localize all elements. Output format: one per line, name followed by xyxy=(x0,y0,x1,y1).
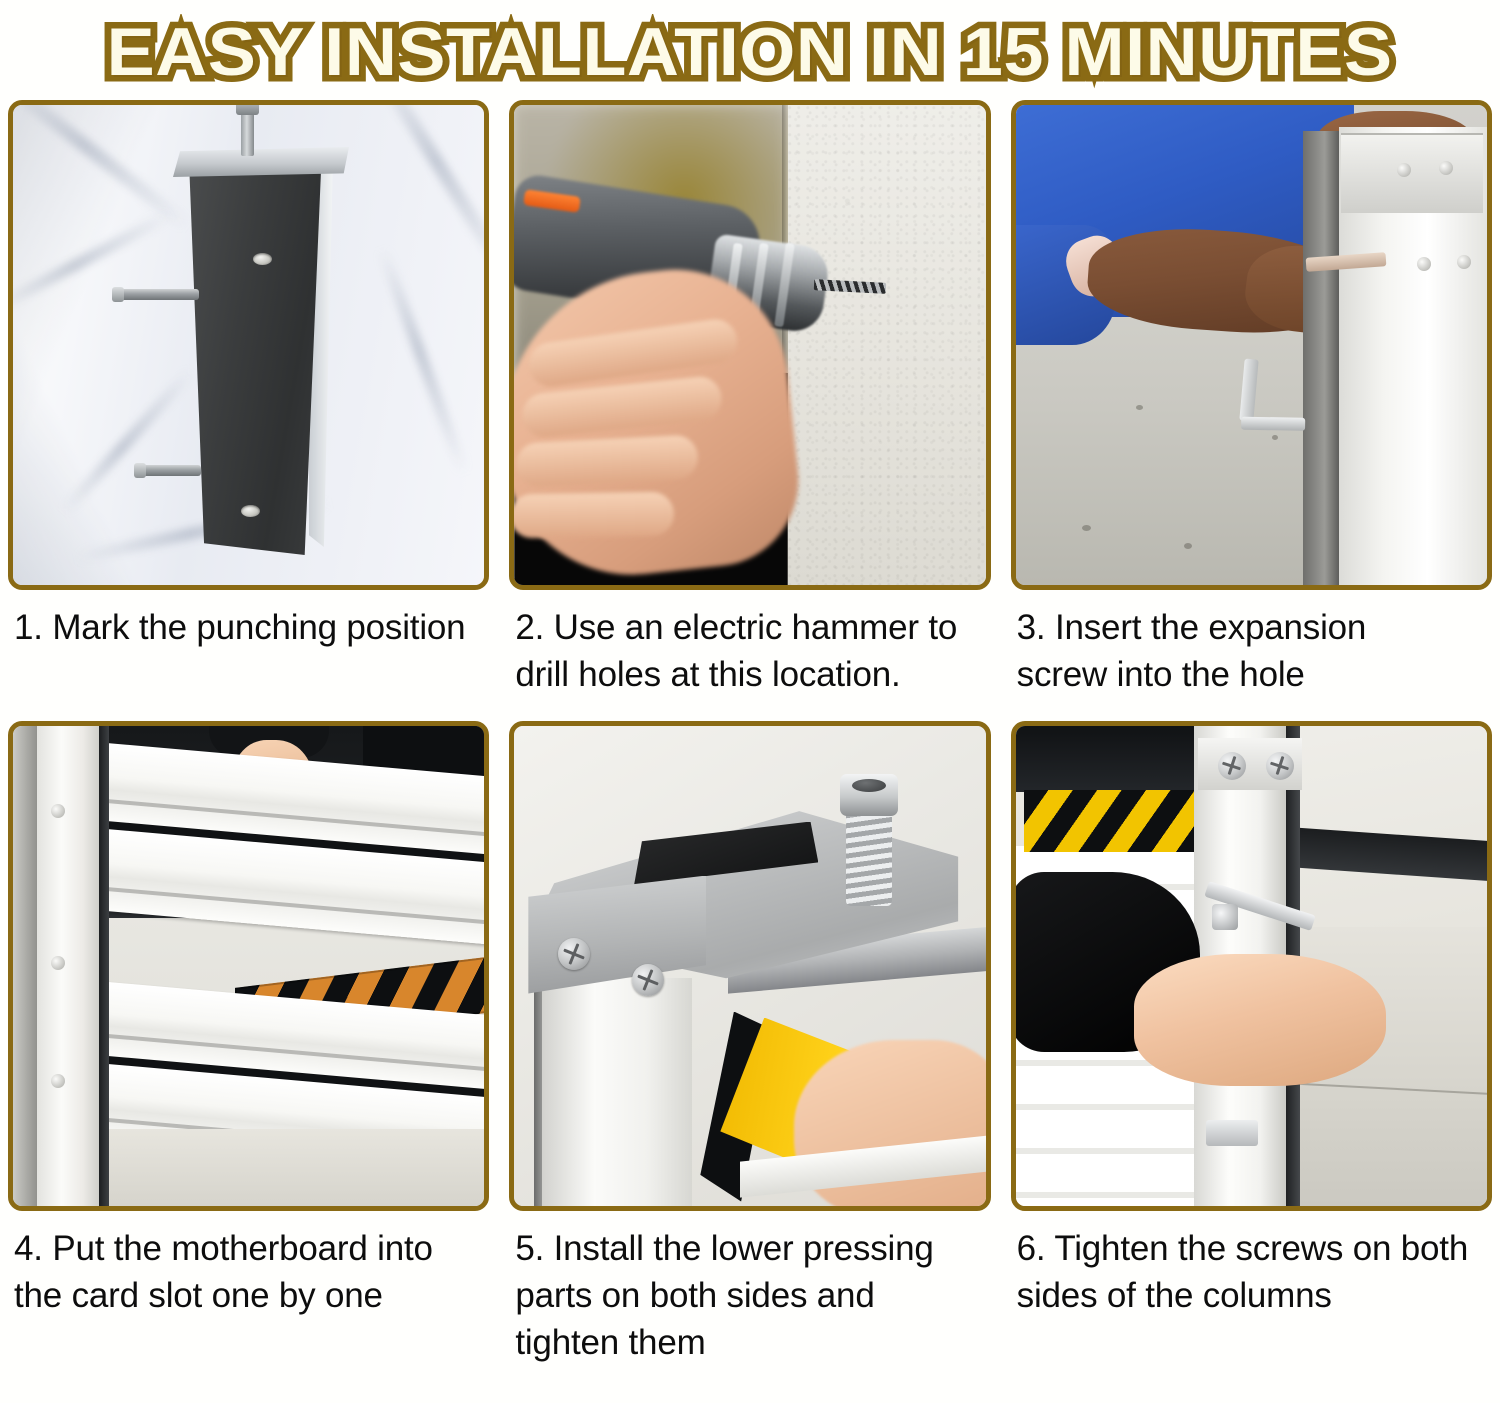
step-caption-1: 1. Mark the punching position xyxy=(8,590,489,651)
post-front-face xyxy=(185,163,321,555)
step-card-2: 2. Use an electric hammer to drill holes… xyxy=(509,100,990,699)
thumb-bolt-head xyxy=(840,774,898,816)
step-photo-6 xyxy=(1016,726,1487,1206)
post-dark-edge xyxy=(13,726,39,1206)
side-bolt-lower xyxy=(143,465,201,476)
side-bolt-upper xyxy=(121,289,199,300)
post-hole-lower xyxy=(241,505,260,517)
post-screw xyxy=(51,804,65,818)
column-screw xyxy=(1417,257,1431,271)
step-photo-frame-3 xyxy=(1011,100,1492,590)
step-photo-5 xyxy=(514,726,985,1206)
step-caption-6: 6. Tighten the screws on both sides of t… xyxy=(1011,1211,1492,1320)
dark-top-band xyxy=(1016,726,1202,792)
caption-line: the card slot one by one xyxy=(14,1272,485,1319)
step-photo-2 xyxy=(514,105,985,585)
step-caption-4: 4. Put the motherboard into the card slo… xyxy=(8,1211,489,1320)
step-card-6: 6. Tighten the screws on both sides of t… xyxy=(1011,721,1492,1367)
phillips-screw xyxy=(558,938,590,970)
post-hole-upper xyxy=(253,253,272,265)
column-screw xyxy=(1457,255,1471,269)
step-photo-frame-2 xyxy=(509,100,990,590)
step-caption-3: 3. Insert the expansion screw into the h… xyxy=(1011,590,1492,699)
caption-line: 2. Use an electric hammer to xyxy=(515,604,986,651)
caption-line: 1. Mark the punching position xyxy=(14,604,485,651)
caption-line: tighten them xyxy=(515,1319,986,1366)
steps-row-top: 1. Mark the punching position xyxy=(8,100,1492,699)
hand xyxy=(1134,954,1386,1086)
caption-line: screw into the hole xyxy=(1017,651,1488,698)
step-caption-5: 5. Install the lower pressing parts on b… xyxy=(509,1211,990,1367)
phillips-screw xyxy=(1266,752,1294,780)
caption-line: drill holes at this location. xyxy=(515,651,986,698)
step-card-4: 4. Put the motherboard into the card slo… xyxy=(8,721,489,1367)
top-bolt xyxy=(241,110,254,156)
bracket-screw xyxy=(1397,163,1411,177)
floor-speck xyxy=(1082,525,1091,531)
post-screw xyxy=(51,956,65,970)
white-column xyxy=(542,978,692,1206)
finger xyxy=(514,492,674,539)
step-caption-2: 2. Use an electric hammer to drill holes… xyxy=(509,590,990,699)
floor-speck xyxy=(1272,435,1278,440)
caption-line: 3. Insert the expansion xyxy=(1017,604,1488,651)
phillips-screw xyxy=(1218,752,1246,780)
step-photo-4 xyxy=(13,726,484,1206)
step-card-1: 1. Mark the punching position xyxy=(8,100,489,699)
caption-line: parts on both sides and xyxy=(515,1272,986,1319)
steps-grid: 1. Mark the punching position xyxy=(0,100,1500,1366)
page-title: EASY INSTALLATION IN 15 MINUTES xyxy=(107,18,1393,86)
caption-line: sides of the columns xyxy=(1017,1272,1488,1319)
tool-tip xyxy=(1212,904,1238,930)
post-shadow-edge xyxy=(99,726,109,1206)
caption-line: 4. Put the motherboard into xyxy=(14,1225,485,1272)
column-bracket xyxy=(1341,133,1483,213)
caption-line: 6. Tighten the screws on both xyxy=(1017,1225,1488,1272)
step-card-5: 5. Install the lower pressing parts on b… xyxy=(509,721,990,1367)
step-photo-frame-5 xyxy=(509,721,990,1211)
post-top-cap xyxy=(173,147,349,177)
textured-wall xyxy=(788,105,986,585)
step-photo-1 xyxy=(13,105,484,585)
lower-fitting xyxy=(1206,1120,1258,1146)
step-photo-frame-1 xyxy=(8,100,489,590)
caption-line: 5. Install the lower pressing xyxy=(515,1225,986,1272)
steps-row-bottom: 4. Put the motherboard into the card slo… xyxy=(8,721,1492,1367)
phillips-screw xyxy=(632,964,664,996)
step-photo-frame-4 xyxy=(8,721,489,1211)
white-post xyxy=(37,726,99,1206)
floor-speck xyxy=(1184,543,1192,549)
hazard-stripe xyxy=(1024,790,1200,852)
column-dark-edge xyxy=(1303,131,1339,585)
header-banner: EASY INSTALLATION IN 15 MINUTES xyxy=(0,0,1500,100)
post-screw xyxy=(51,1074,65,1088)
step-card-3: 3. Insert the expansion screw into the h… xyxy=(1011,100,1492,699)
step-photo-frame-6 xyxy=(1011,721,1492,1211)
step-photo-3 xyxy=(1016,105,1487,585)
bracket-screw xyxy=(1439,161,1453,175)
floor-speck xyxy=(1136,405,1143,410)
